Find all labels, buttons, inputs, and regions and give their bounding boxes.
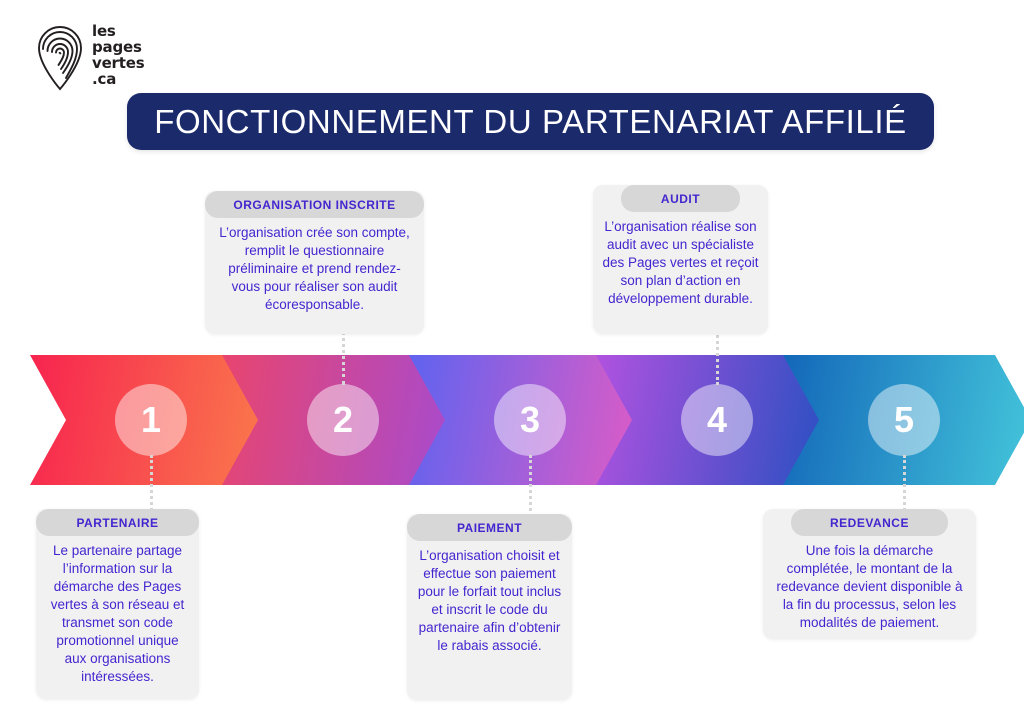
step-box-2: ORGANISATION INSCRITE L’organisation cré… [205,191,424,334]
step-box-5: REDEVANCE Une fois la démarche complétée… [763,509,976,639]
brand-wordmark: les pages vertes .ca [92,24,144,88]
step-text-1: Le partenaire partage l’information sur … [45,542,190,686]
step-label-pill-1: PARTENAIRE [36,509,199,536]
step-label-pill-4: AUDIT [621,185,740,212]
connector-line-4 [716,330,722,385]
logo-line-4: .ca [92,72,144,88]
step-number-circle-2: 2 [307,384,379,456]
step-label-2: ORGANISATION INSCRITE [233,198,395,212]
step-text-4: L’organisation réalise son audit avec un… [602,218,759,308]
step-number-2: 2 [333,402,353,438]
step-number-circle-5: 5 [868,384,940,456]
step-label-4: AUDIT [661,192,700,206]
step-label-pill-5: REDEVANCE [791,509,948,536]
connector-line-5 [903,455,909,517]
step-label-3: PAIEMENT [457,521,522,535]
page-title-banner: FONCTIONNEMENT DU PARTENARIAT AFFILIÉ [127,93,934,150]
step-number-4: 4 [707,402,727,438]
step-box-1: PARTENAIRE Le partenaire partage l’infor… [36,509,199,699]
step-number-circle-4: 4 [681,384,753,456]
step-number-5: 5 [894,402,914,438]
step-label-1: PARTENAIRE [76,516,158,530]
brand-logo: les pages vertes .ca [34,18,154,94]
step-label-pill-3: PAIEMENT [407,514,572,541]
step-label-pill-2: ORGANISATION INSCRITE [205,191,424,218]
step-number-3: 3 [520,402,540,438]
step-number-circle-3: 3 [494,384,566,456]
connector-line-3 [529,455,535,517]
step-number-circle-1: 1 [115,384,187,456]
page-title: FONCTIONNEMENT DU PARTENARIAT AFFILIÉ [154,103,907,141]
step-box-3: PAIEMENT L’organisation choisit et effec… [407,514,572,700]
step-box-4: AUDIT L’organisation réalise son audit a… [593,185,768,334]
step-text-3: L’organisation choisit et effectue son p… [416,547,563,655]
connector-line-1 [150,455,156,517]
step-number-1: 1 [141,402,161,438]
step-text-2: L’organisation crée son compte, remplit … [214,224,415,314]
step-label-5: REDEVANCE [830,516,909,530]
step-text-5: Une fois la démarche complétée, le monta… [772,542,967,632]
fingerprint-pin-icon [34,21,86,91]
connector-line-2 [342,325,348,385]
